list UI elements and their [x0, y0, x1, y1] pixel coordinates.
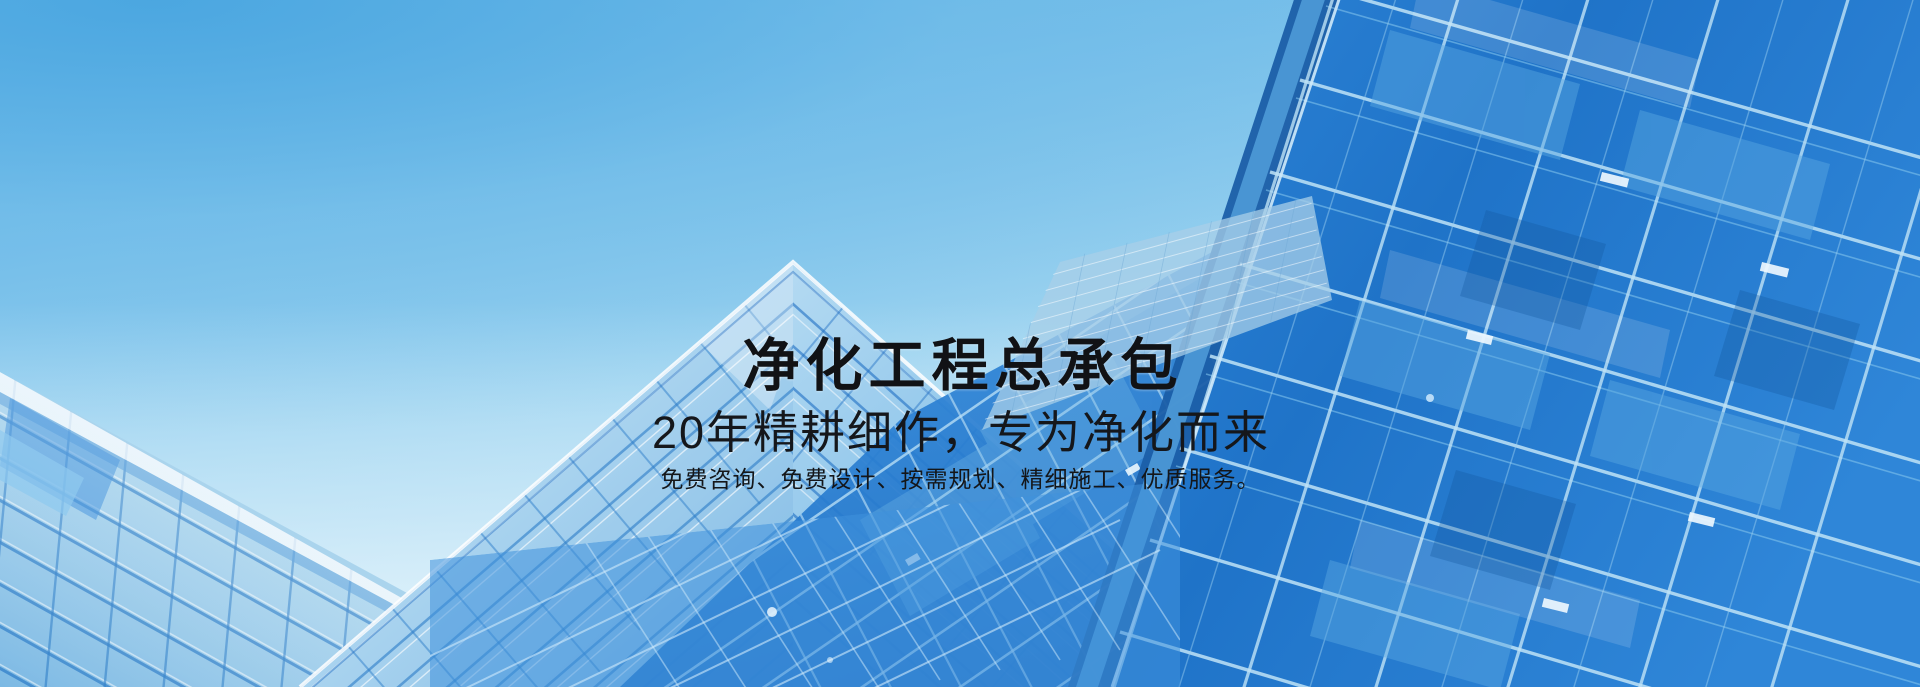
hero-banner: 净化工程总承包 20年精耕细作，专为净化而来 免费咨询、免费设计、按需规划、精细… [0, 0, 1920, 687]
hero-tagline: 免费咨询、免费设计、按需规划、精细施工、优质服务。 [0, 466, 1920, 494]
hero-copy: 净化工程总承包 20年精耕细作，专为净化而来 免费咨询、免费设计、按需规划、精细… [0, 336, 1920, 494]
page-title: 净化工程总承包 [0, 336, 1920, 396]
hero-subheadline: 20年精耕细作，专为净化而来 [0, 408, 1920, 458]
